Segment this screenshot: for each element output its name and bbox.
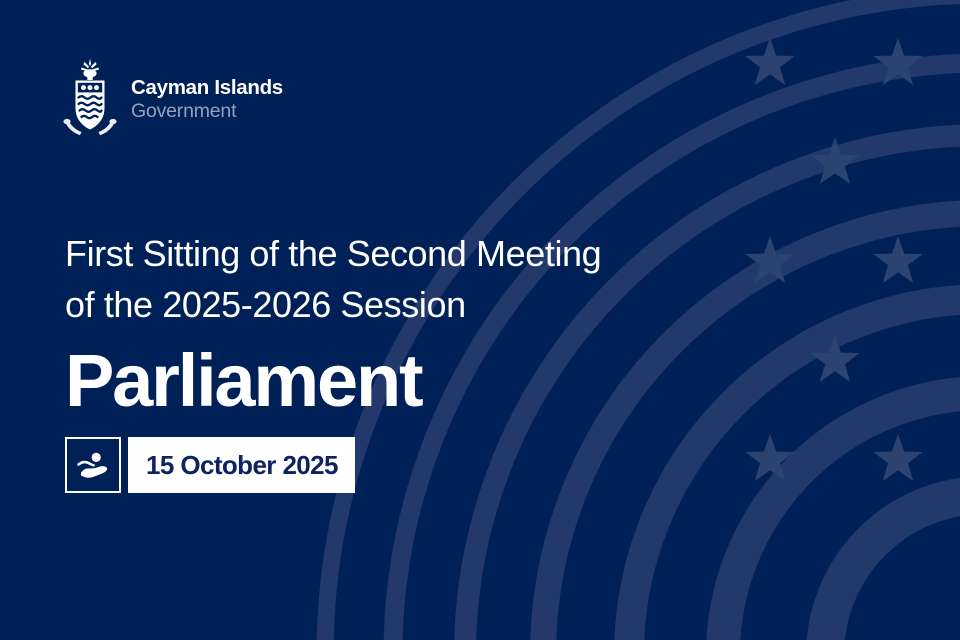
star-icon <box>810 137 859 184</box>
kicker-line-2: of the 2025-2026 Session <box>65 279 705 330</box>
star-pattern-group <box>745 38 922 481</box>
logo-wordmark: Cayman Islands Government <box>131 73 283 123</box>
logo-primary-text: Cayman Islands <box>131 77 283 100</box>
page-title: Parliament <box>65 344 705 418</box>
arc-band <box>723 393 960 640</box>
arc-band <box>825 495 960 640</box>
badge-date-box: 15 October 2025 <box>128 437 355 493</box>
star-icon <box>873 38 922 85</box>
star-icon <box>745 236 794 283</box>
cayman-islands-government-logo: Cayman Islands Government <box>62 56 283 140</box>
star-icon <box>873 236 922 283</box>
hand-holding-wave-icon <box>73 445 113 485</box>
star-icon <box>810 335 859 382</box>
star-icon <box>745 38 794 85</box>
logo-secondary-text: Government <box>131 100 283 123</box>
date-badge: 15 October 2025 <box>65 437 355 493</box>
event-date: 15 October 2025 <box>146 450 338 481</box>
star-icon <box>745 434 794 481</box>
badge-icon-box <box>65 437 121 493</box>
parliament-announcement-banner: Cayman Islands Government First Sitting … <box>0 0 960 640</box>
headline-block: First Sitting of the Second Meeting of t… <box>65 228 705 418</box>
kicker-line-1: First Sitting of the Second Meeting <box>65 228 705 279</box>
star-icon <box>873 434 922 481</box>
coat-of-arms-icon <box>62 56 118 140</box>
